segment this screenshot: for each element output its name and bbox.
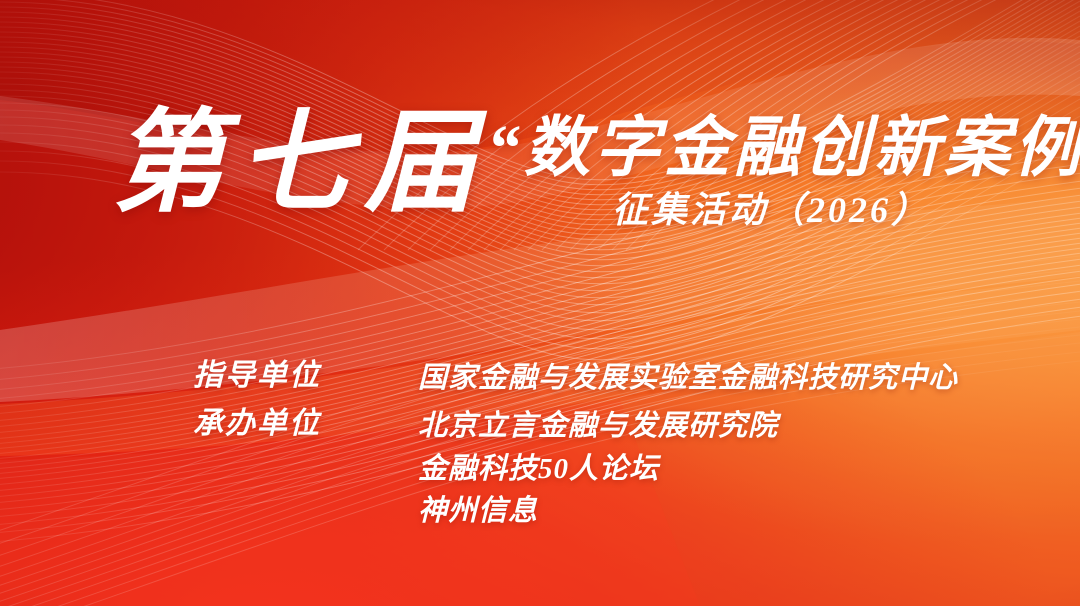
title-edition: 第七届	[112, 108, 490, 220]
title-subtitle-year: 征集活动（2026）	[612, 192, 930, 228]
credit-label-guidance: 指导单位	[193, 357, 418, 395]
title-quoted-theme: “数字金融创新案例”	[487, 116, 1080, 182]
credit-values-guidance: 国家金融与发展实验室金融科技研究中心	[418, 357, 958, 400]
poster-content: 第七届 “数字金融创新案例” 征集活动（2026） 指导单位 国家金融与发展实验…	[0, 0, 1080, 606]
credit-value-host-3: 神州信息	[418, 490, 778, 533]
credit-values-host: 北京立言金融与发展研究院 金融科技50人论坛 神州信息	[418, 405, 778, 533]
credit-value-host-1: 北京立言金融与发展研究院	[418, 405, 778, 448]
credit-row-host: 承办单位 北京立言金融与发展研究院 金融科技50人论坛 神州信息	[193, 405, 778, 533]
credit-row-guidance: 指导单位 国家金融与发展实验室金融科技研究中心	[193, 357, 958, 400]
credit-label-host: 承办单位	[193, 405, 418, 443]
credit-value-guidance-1: 国家金融与发展实验室金融科技研究中心	[418, 357, 958, 400]
headline-group: 第七届 “数字金融创新案例” 征集活动（2026）	[0, 0, 1080, 260]
credit-value-host-2: 金融科技50人论坛	[418, 448, 778, 491]
poster-banner: 第七届 “数字金融创新案例” 征集活动（2026） 指导单位 国家金融与发展实验…	[0, 0, 1080, 606]
